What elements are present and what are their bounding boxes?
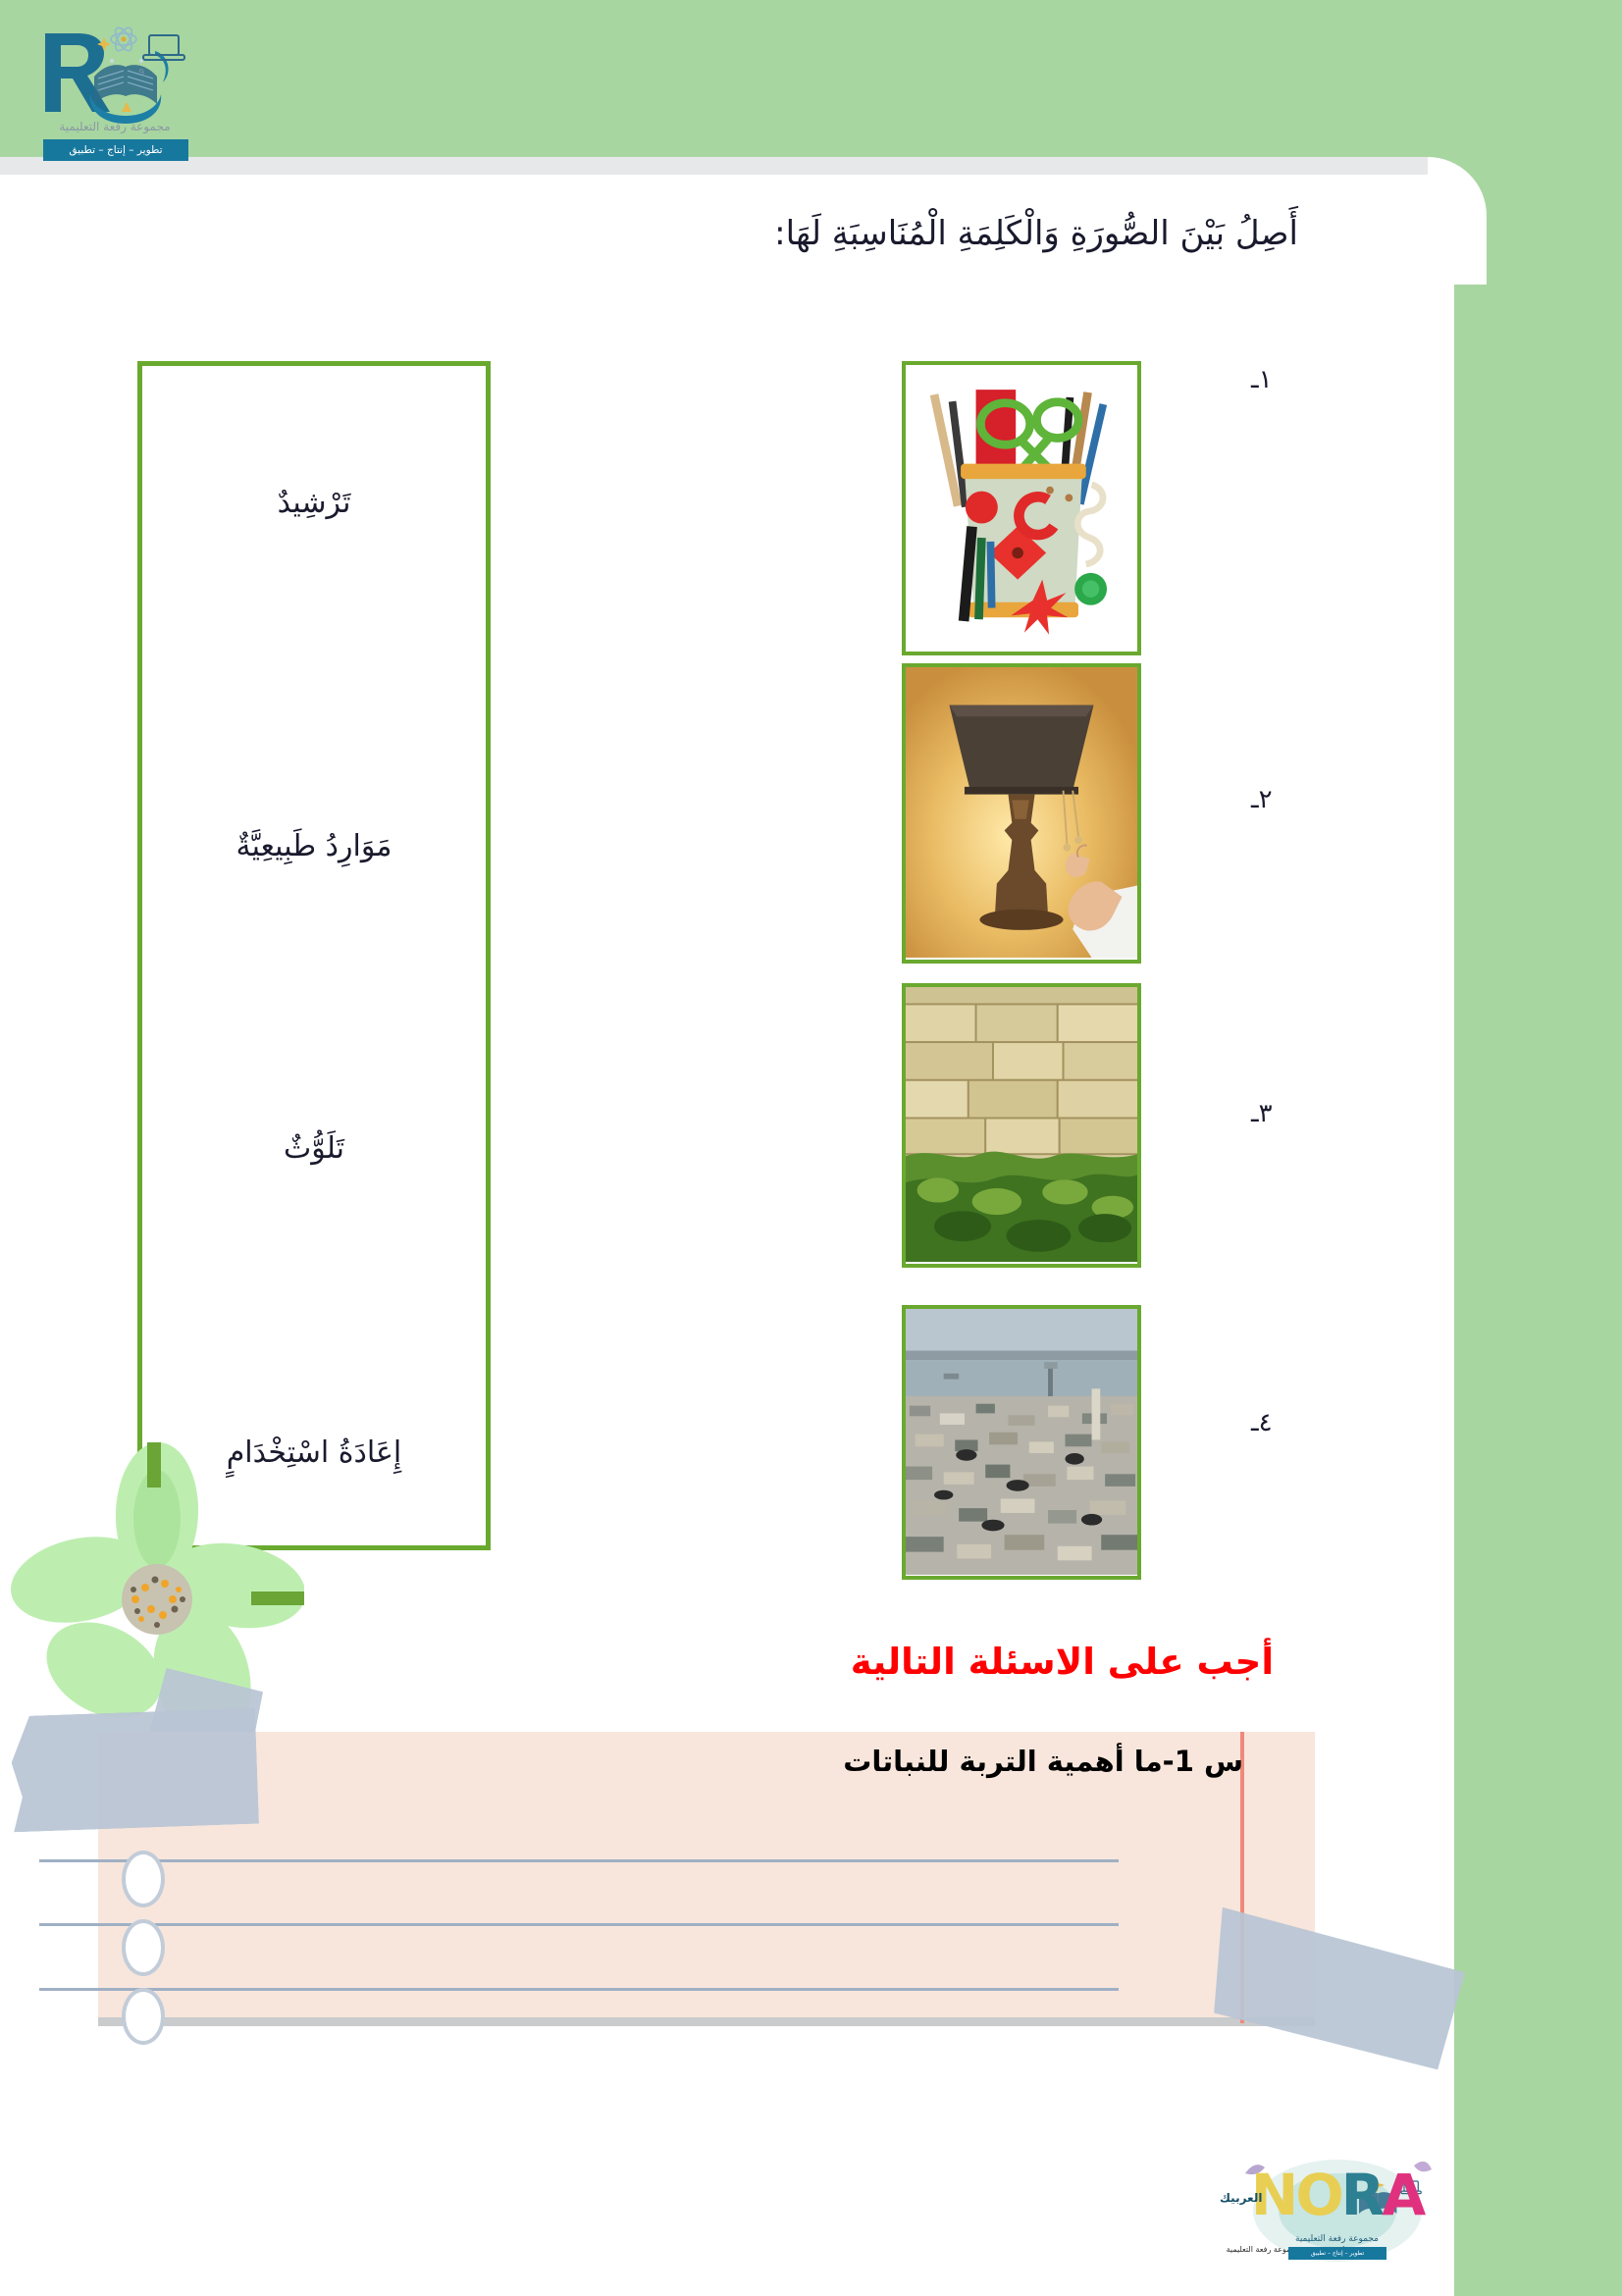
word-bank-item[interactable]: تَلَوُّثٌ xyxy=(142,1131,486,1166)
punch-hole xyxy=(126,1854,161,1904)
question-1-text: س 1-ما أهمية التربة للنباتات xyxy=(843,1745,1243,1778)
table-lamp-photo[interactable] xyxy=(902,663,1141,964)
item-number: ٣ـ xyxy=(1251,1099,1273,1128)
header-logo: ٩ مجموعة رفعة التعليمية تطوير – إنتاج – … xyxy=(22,22,208,169)
open-book-logo-icon: ٩ xyxy=(39,22,186,125)
word-bank-box: تَرْشِيدٌ مَوَارِدُ طَبِيعِيَّةٌ تَلَوُّ… xyxy=(137,361,491,1550)
stone-wall-nature-photo[interactable] xyxy=(902,983,1141,1268)
item-number: ٢ـ xyxy=(1251,785,1273,814)
footer-logo-letter-a: A xyxy=(1382,2162,1423,2228)
pencil-holder-photo[interactable] xyxy=(902,361,1141,655)
item-number: ٤ـ xyxy=(1251,1408,1273,1437)
svg-text:٩: ٩ xyxy=(138,66,145,80)
logo-tagline-banner: تطوير – إنتاج – تطبيق xyxy=(43,139,188,161)
questions-heading: أجب على الاسئلة التالية xyxy=(851,1641,1274,1683)
footer-logo-badge: العربيك xyxy=(1220,2191,1262,2205)
answer-line[interactable] xyxy=(39,1988,1119,1991)
washi-tape-sticker xyxy=(10,1708,259,1833)
punch-hole xyxy=(126,1923,161,1972)
grey-divider-strip xyxy=(0,157,1454,175)
top-green-band xyxy=(0,0,1622,157)
footer-logo-letter-r: R xyxy=(1341,2162,1383,2228)
logo-organization-name: مجموعة رفعة التعليمية xyxy=(22,120,208,133)
word-bank-item[interactable]: تَرْشِيدٌ xyxy=(142,486,486,520)
footer-logo-tagline: تطوير – إنتاج – تطبيق xyxy=(1288,2247,1387,2260)
answer-line[interactable] xyxy=(39,1923,1119,1926)
footer-logo-arabic-name: مجموعة رفعة التعليمية xyxy=(1212,2234,1462,2244)
top-right-corner-block xyxy=(1428,0,1622,177)
page-title: أَصِلُ بَيْنَ الصُّورَةِ وَالْكَلِمَةِ ا… xyxy=(774,214,1298,253)
notepad-bottom-shadow xyxy=(98,2017,1315,2026)
right-green-band xyxy=(1443,0,1622,2296)
item-number: ١ـ xyxy=(1251,365,1273,394)
polluted-shore-photo[interactable] xyxy=(902,1305,1141,1580)
footer-logo: NORA العربيك مجموعة رفعة التعليمية اعد م… xyxy=(1212,2154,1462,2276)
worksheet-page: ٩ مجموعة رفعة التعليمية تطوير – إنتاج – … xyxy=(0,0,1622,2296)
footer-logo-letter-o: O xyxy=(1295,2162,1340,2228)
word-bank-item[interactable]: مَوَارِدُ طَبِيعِيَّةٌ xyxy=(142,829,486,863)
punch-hole xyxy=(126,1992,161,2041)
answer-line[interactable] xyxy=(39,1859,1119,1862)
